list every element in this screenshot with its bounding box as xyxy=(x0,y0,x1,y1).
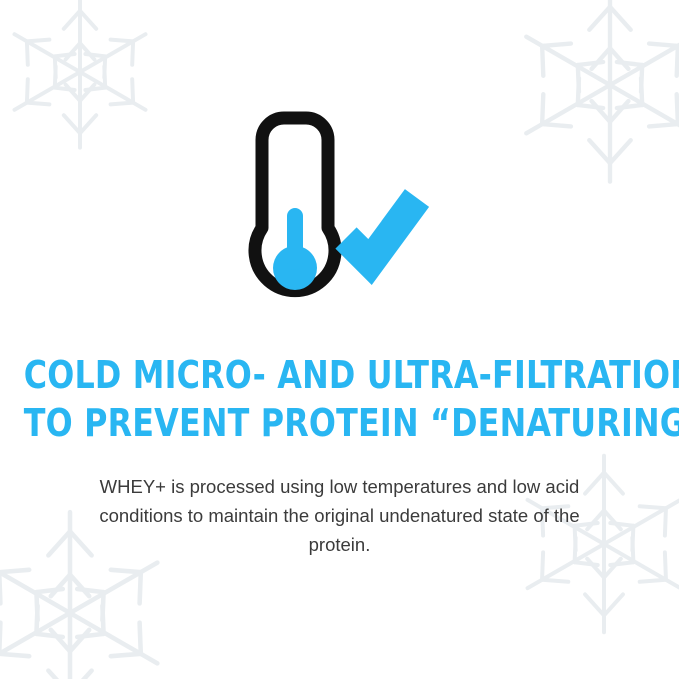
checkmark-icon xyxy=(346,198,417,262)
product-infographic: COLD MICRO- AND ULTRA-FILTRATION TO PREV… xyxy=(0,0,679,679)
headline-line-1: COLD MICRO- AND ULTRA-FILTRATION xyxy=(24,352,655,398)
text-block: COLD MICRO- AND ULTRA-FILTRATION TO PREV… xyxy=(0,352,679,559)
icon-group xyxy=(0,72,679,342)
thermometer-icon xyxy=(255,118,335,291)
body-copy: WHEY+ is processed using low temperature… xyxy=(80,472,600,559)
thermometer-check-graphic xyxy=(210,72,470,332)
headline-line-2: TO PREVENT PROTEIN “DENATURING” xyxy=(24,400,655,446)
